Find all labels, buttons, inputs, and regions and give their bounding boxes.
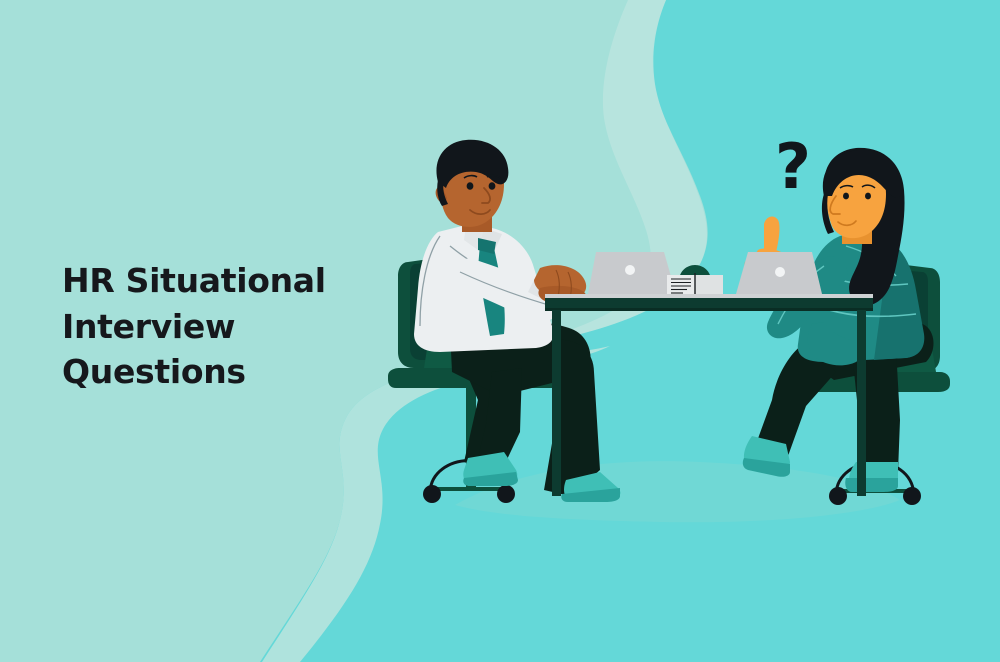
woman-chair-wheel-right bbox=[903, 487, 921, 505]
interview-illustration: ? bbox=[0, 0, 1000, 662]
man-eye-left bbox=[467, 182, 474, 190]
woman-eye-left bbox=[843, 193, 849, 200]
desk-leg-left bbox=[552, 310, 561, 496]
laptop-left bbox=[584, 252, 680, 298]
laptop-right bbox=[732, 252, 826, 298]
woman-shoe-rear-sole bbox=[845, 478, 898, 492]
woman-index-finger bbox=[764, 217, 779, 252]
question-mark-icon: ? bbox=[775, 130, 811, 203]
document-page-right bbox=[695, 275, 723, 295]
desk-top-shadow bbox=[545, 308, 873, 311]
document-page-left bbox=[667, 275, 695, 295]
desk-leg-right bbox=[857, 310, 866, 496]
woman-eye-right bbox=[865, 193, 871, 200]
man-chair-wheel-left bbox=[423, 485, 441, 503]
man-eye-right bbox=[489, 182, 496, 190]
man-chair-wheel-right bbox=[497, 485, 515, 503]
desk-top-edge bbox=[545, 294, 873, 298]
laptop-right-logo bbox=[775, 267, 785, 277]
laptop-left-logo bbox=[625, 265, 635, 275]
woman-chair-wheel-left bbox=[829, 487, 847, 505]
illustration-banner: ? HR Situational Interview Questions bbox=[0, 0, 1000, 662]
